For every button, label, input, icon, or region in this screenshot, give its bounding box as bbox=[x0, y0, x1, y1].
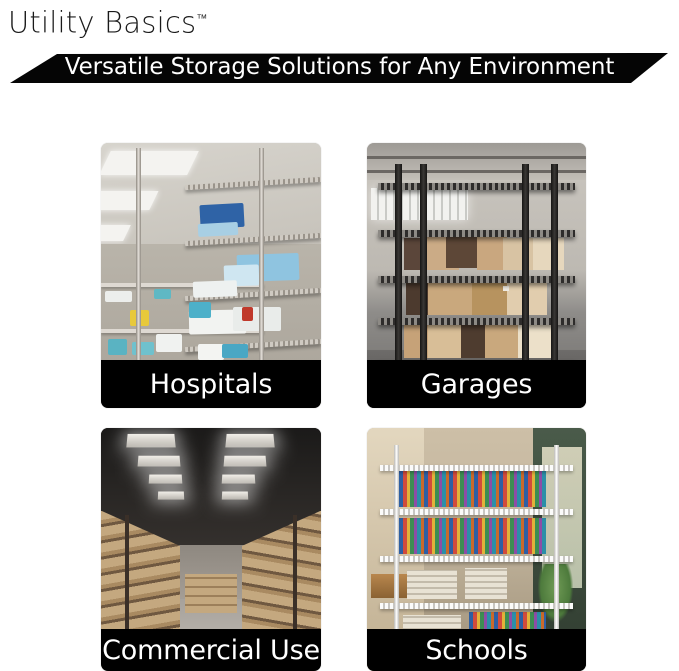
wire-shelf bbox=[378, 230, 575, 237]
tile-label-garages: Garages bbox=[421, 371, 533, 398]
cardboard-box bbox=[533, 238, 564, 270]
storage-bin bbox=[132, 342, 154, 355]
rack-upright bbox=[293, 515, 297, 641]
headline-banner: Versatile Storage Solutions for Any Envi… bbox=[0, 48, 679, 88]
shelf-post bbox=[420, 164, 427, 387]
tile-label-bar-garages: Garages bbox=[367, 360, 586, 408]
skylight bbox=[222, 475, 256, 484]
category-tile-grid: Hospitals bbox=[0, 128, 679, 671]
rack-upright bbox=[125, 515, 129, 641]
box-label bbox=[503, 286, 509, 291]
brand-title: Utility Basics™ bbox=[8, 2, 207, 40]
tile-label-hospitals: Hospitals bbox=[150, 371, 272, 398]
tile-hospitals[interactable]: Hospitals bbox=[101, 143, 321, 408]
skylight bbox=[222, 492, 249, 500]
pallet-stack bbox=[185, 574, 238, 613]
book-row bbox=[399, 471, 545, 507]
wire-shelf bbox=[378, 183, 575, 190]
wire-shelf bbox=[380, 603, 573, 609]
tile-label-schools: Schools bbox=[425, 637, 527, 664]
book-row bbox=[399, 518, 545, 554]
tile-label-bar-hospitals: Hospitals bbox=[101, 360, 321, 408]
wire-shelf bbox=[378, 318, 575, 325]
storage-bin bbox=[233, 307, 281, 331]
skylight bbox=[226, 434, 276, 447]
wire-shelf bbox=[378, 276, 575, 283]
tile-label-bar-commercial-use: Commercial Use bbox=[101, 629, 321, 671]
ceiling-beam bbox=[367, 156, 586, 159]
tile-garages[interactable]: Garages bbox=[367, 143, 586, 408]
storage-bin bbox=[108, 339, 128, 355]
wire-shelf bbox=[185, 177, 321, 190]
tile-schools[interactable]: Schools bbox=[367, 428, 586, 671]
cardboard-box bbox=[461, 323, 487, 357]
cardboard-box bbox=[428, 281, 472, 315]
storage-bin bbox=[193, 280, 238, 297]
storage-bin bbox=[154, 289, 172, 300]
skylight bbox=[138, 455, 181, 466]
tile-label-bar-schools: Schools bbox=[367, 629, 586, 671]
brand-name: Utility Basics bbox=[8, 6, 196, 40]
skylight bbox=[224, 455, 267, 466]
skylight bbox=[127, 434, 177, 447]
wire-shelf bbox=[380, 556, 573, 562]
wire-shelf bbox=[380, 509, 573, 515]
storage-bin bbox=[197, 221, 237, 236]
storage-bin bbox=[156, 334, 182, 353]
paper-stack bbox=[465, 568, 507, 599]
ceiling-light-panel bbox=[101, 191, 158, 210]
shelf-post bbox=[522, 164, 529, 387]
tile-label-commercial-use: Commercial Use bbox=[102, 637, 320, 664]
shelf-post bbox=[551, 164, 558, 387]
shelf-post bbox=[395, 164, 402, 387]
storage-bin bbox=[242, 307, 253, 320]
storage-bin bbox=[222, 344, 248, 357]
wire-shelf bbox=[380, 465, 573, 471]
skylight bbox=[149, 475, 183, 484]
storage-bin bbox=[189, 302, 211, 318]
cardboard-box bbox=[428, 323, 463, 357]
storage-bin bbox=[198, 344, 224, 360]
shelf-post bbox=[554, 445, 559, 660]
cardboard-box bbox=[446, 236, 479, 268]
headline-text: Versatile Storage Solutions for Any Envi… bbox=[0, 48, 679, 88]
storage-bin bbox=[105, 291, 131, 302]
shelf-post bbox=[394, 445, 399, 660]
trademark-symbol: ™ bbox=[196, 12, 207, 25]
skylight bbox=[158, 492, 185, 500]
tile-commercial-use[interactable]: Commercial Use bbox=[101, 428, 321, 671]
paper-stack bbox=[407, 570, 457, 599]
